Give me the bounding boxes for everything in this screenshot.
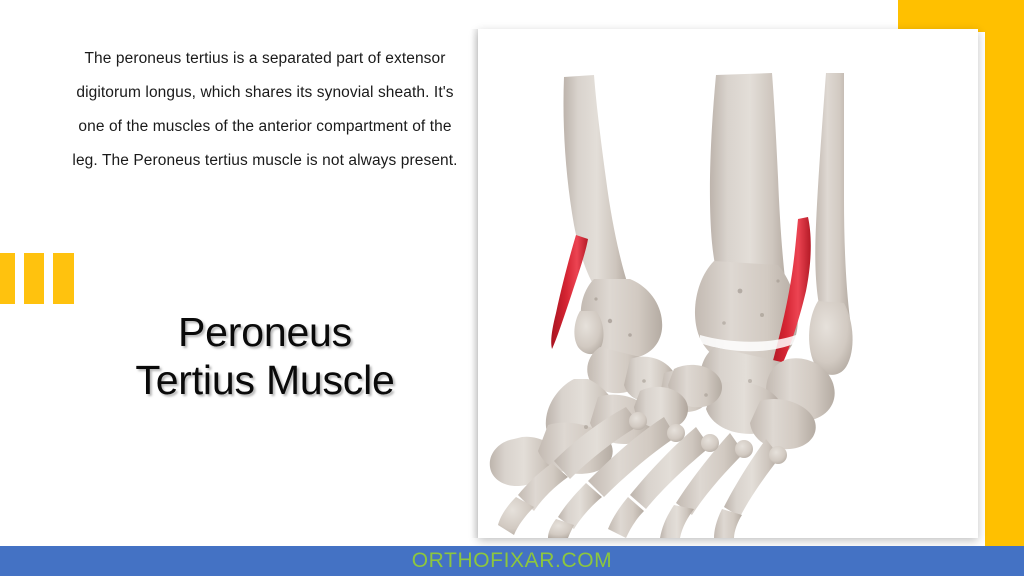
description-block: The peroneus tertius is a separated part… [70, 42, 460, 178]
illustration-card [478, 29, 978, 538]
page-title: Peroneus Tertius Muscle [60, 308, 470, 405]
description-text: The peroneus tertius is a separated part… [70, 42, 460, 178]
page-title-line-2: Tertius Muscle [60, 356, 470, 404]
accent-tick-3 [53, 253, 74, 304]
accent-tick-2 [24, 253, 45, 304]
slide-canvas: The peroneus tertius is a separated part… [0, 0, 1024, 576]
footer-website[interactable]: ORTHOFIXAR.COM [412, 549, 613, 573]
anatomy-illustration [478, 29, 978, 538]
accent-tick-1 [0, 253, 15, 304]
page-title-line-1: Peroneus [60, 308, 470, 356]
accent-shape-right-edge [985, 0, 1024, 548]
footer-bar: ORTHOFIXAR.COM [0, 546, 1024, 576]
accent-ticks-left [0, 253, 74, 304]
